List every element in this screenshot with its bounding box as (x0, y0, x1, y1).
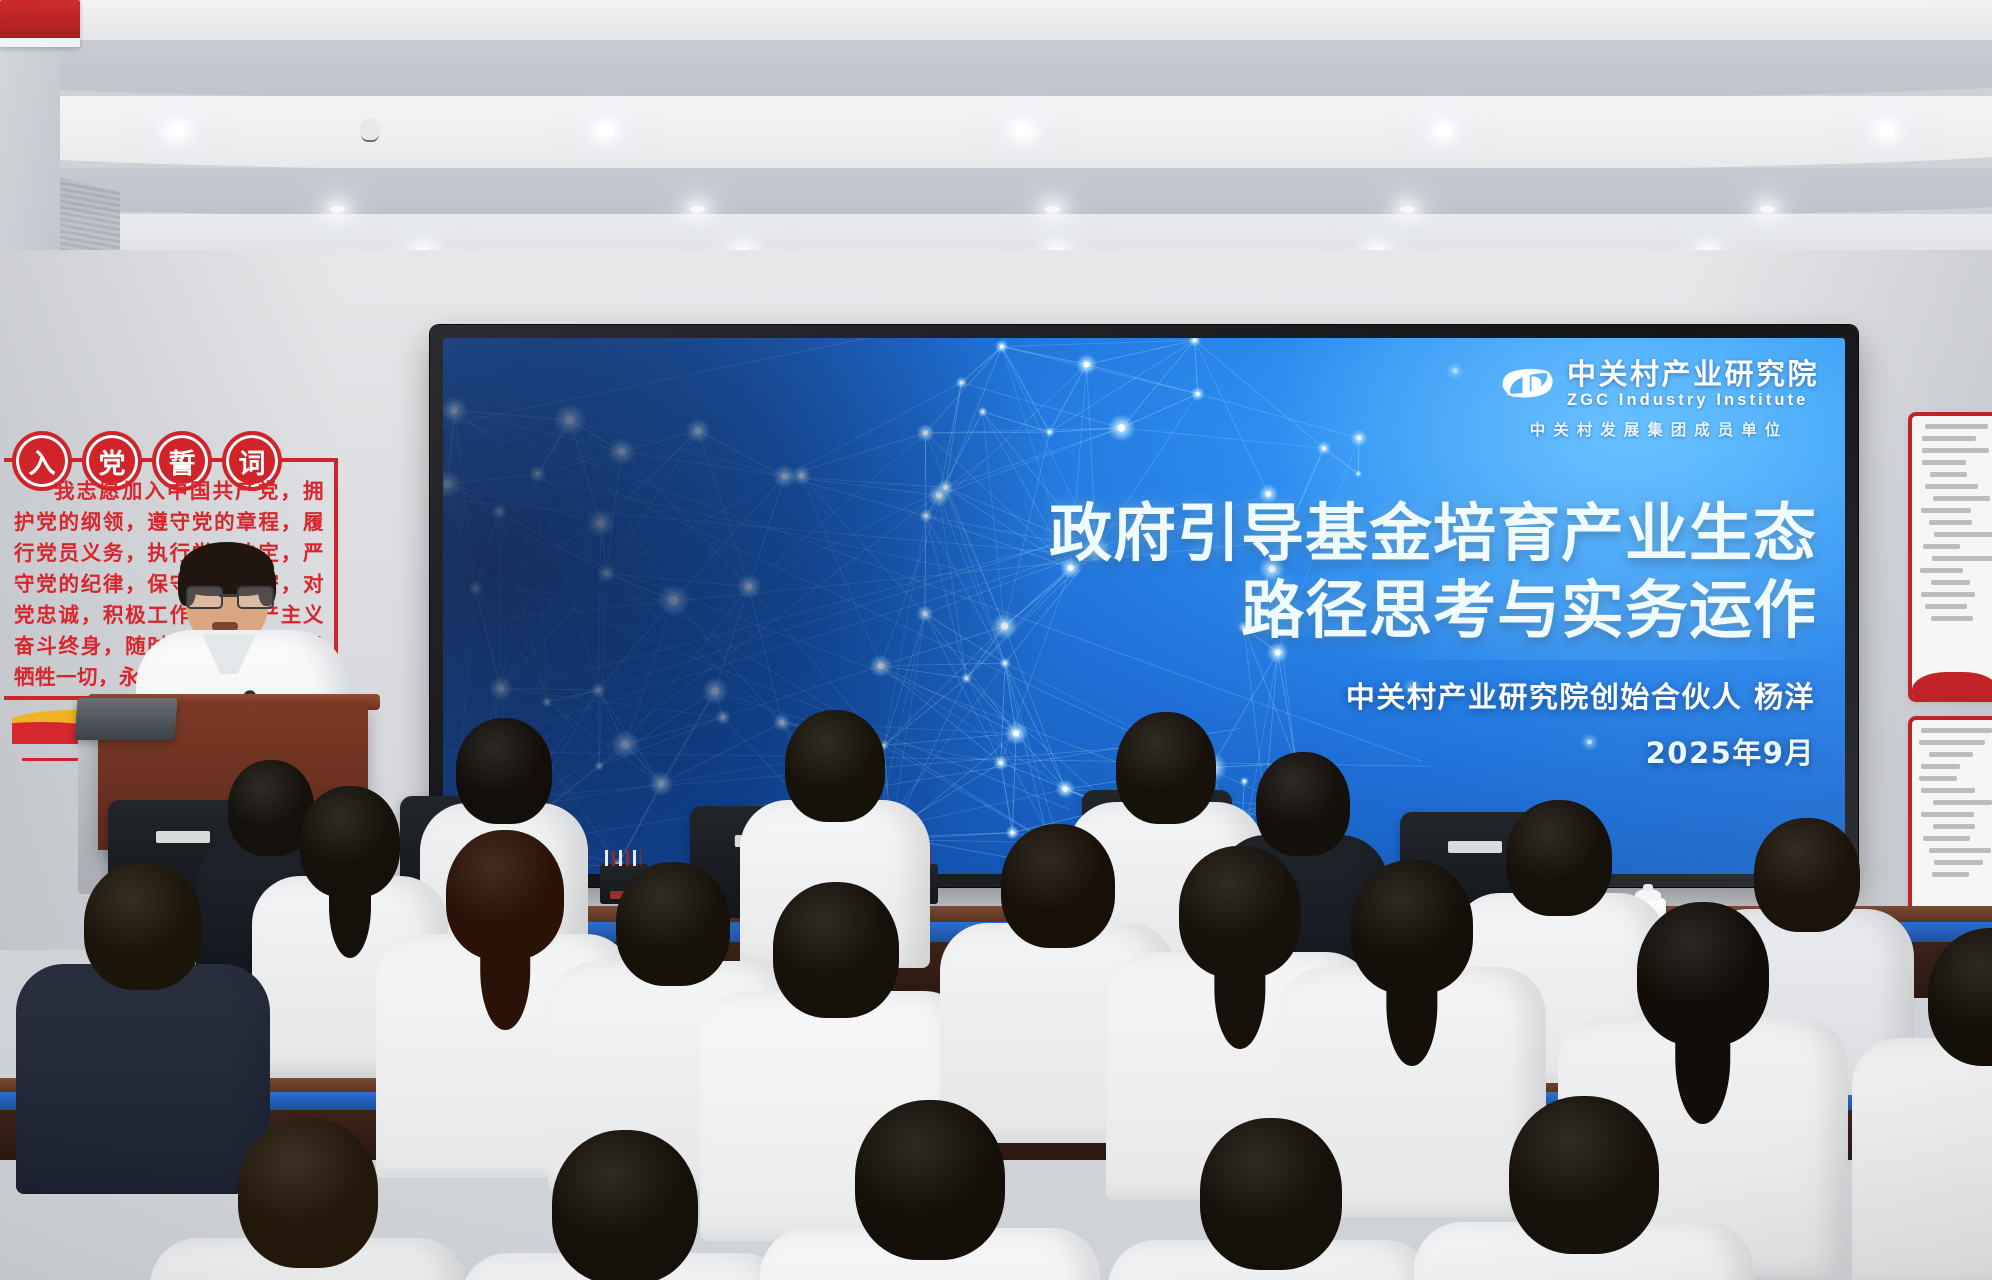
panel-text-line (1921, 788, 1975, 793)
slide-byline: 中关村产业研究院创始合伙人 杨洋 (1346, 674, 1815, 716)
audience-member-head (1256, 752, 1350, 856)
regulations-panel-upper (1908, 412, 1992, 702)
audience-member-head (1116, 712, 1216, 824)
audience-member-head (785, 710, 885, 822)
audience-member (1852, 928, 1992, 1280)
ceiling (0, 0, 1992, 250)
ceiling-band-3 (0, 96, 1992, 174)
panel-text-line (1921, 812, 1974, 817)
slide-title-line2: 路径思考与实务运作 (1241, 560, 1817, 651)
audience-member-head (855, 1100, 1005, 1260)
audience-member-head (238, 1118, 378, 1268)
audience-member-head (1637, 902, 1769, 1046)
panel-footer (1912, 672, 1992, 698)
ceiling-light (330, 206, 345, 213)
panel-text-line (1933, 496, 1990, 501)
panel-text-line (1931, 580, 1970, 585)
panel-text-line (1932, 872, 1969, 877)
panel-text-line (1933, 800, 1992, 805)
panel-text-line (1934, 860, 1983, 865)
audience-member-head (84, 862, 202, 990)
panel-text-line (1921, 728, 1991, 733)
panel-text-line (1931, 616, 1974, 621)
panel-text-line (1921, 592, 1975, 597)
audience-member-head (773, 882, 899, 1018)
panel-text-line (1923, 544, 1960, 549)
conference-room-photo: 入党誓词 我志愿加入中国共产党，拥护党的纲领，遵守党的章程，履行党员义务，执行党… (0, 0, 1992, 1280)
logo-name-cn: 中关村产业研究院 (1567, 360, 1819, 389)
audience-member (460, 1130, 790, 1280)
name-placard (0, 0, 80, 47)
ceiling-light (597, 124, 614, 137)
audience-member-head (1200, 1118, 1342, 1270)
panel-text-line (1925, 424, 1988, 429)
panel-text-line (1929, 752, 1973, 757)
panel-text-line (1929, 848, 1990, 853)
audience-member-head (1506, 800, 1612, 916)
ceiling-soffit (0, 29, 60, 250)
panel-text-line (1929, 520, 1972, 525)
audience-member-head (552, 1130, 698, 1280)
ceiling-light (1045, 206, 1060, 213)
ceiling-light (1400, 206, 1415, 213)
ceiling-light (1760, 206, 1775, 213)
panel-text-line (1922, 460, 1965, 465)
panel-text-line (1925, 604, 1967, 609)
panel-text-line (1920, 568, 1963, 573)
audience-member (150, 1118, 466, 1280)
audience-member (1108, 1118, 1434, 1280)
glasses-icon (186, 586, 270, 606)
audience-member-head (1179, 846, 1301, 978)
zgc-logo: 中关村产业研究院 ZGC Industry Institute 中关村发展集团成… (1499, 360, 1819, 440)
audience-member-head (1509, 1096, 1659, 1254)
audience-member-head (1001, 824, 1115, 948)
audience-member (1414, 1096, 1754, 1280)
ceiling-light (1015, 124, 1032, 137)
panel-text-line (1930, 472, 1968, 477)
audience-member (760, 1100, 1100, 1280)
audience-member-head (300, 786, 400, 898)
ceiling-light (1878, 124, 1895, 137)
panel-text-line (1922, 448, 1988, 453)
ceiling-band-4 (0, 168, 1992, 220)
logo-affiliation: 中关村发展集团成员单位 (1499, 418, 1819, 440)
panel-text-line (1923, 836, 1970, 841)
audience-member-torso (1852, 1038, 1992, 1280)
audience-member-head (616, 862, 730, 986)
presenter-laptop (75, 698, 178, 740)
ceiling-band-5 (0, 214, 1992, 250)
ceiling-light (168, 124, 185, 137)
panel-text-line (1934, 532, 1992, 537)
panel-text-line (1919, 740, 1985, 745)
audience-member-head (446, 830, 564, 960)
panel-text-line (1925, 484, 1977, 489)
audience-member-head (1754, 818, 1860, 932)
panel-text-line (1919, 776, 1957, 781)
panel-text-line (1922, 436, 1976, 441)
panel-text-line (1932, 556, 1992, 561)
smoke-detector-icon (360, 118, 380, 140)
ceiling-light (1435, 124, 1452, 137)
audience-member-head (1351, 860, 1473, 994)
ceiling-band-2 (0, 40, 1992, 102)
panel-text-line (1921, 508, 1971, 513)
logo-name-en: ZGC Industry Institute (1567, 392, 1819, 409)
audience-member-head (456, 718, 552, 824)
panel-text-line (1933, 824, 1974, 829)
zgc-logo-mark-icon (1499, 364, 1555, 404)
ceiling-light (690, 206, 705, 213)
slide-date: 2025年9月 (1646, 730, 1815, 772)
panel-text-line (1921, 764, 1960, 769)
